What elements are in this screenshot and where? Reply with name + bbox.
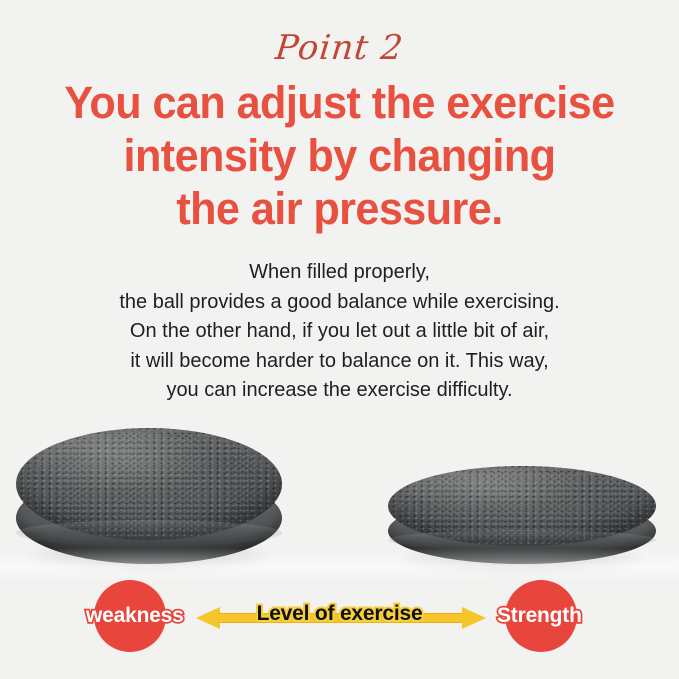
body-paragraph: When filled properly, the ball provides … (0, 258, 679, 406)
body-line-4: it will become harder to balance on it. … (0, 347, 679, 377)
scale-axis-label: Level of exercise (0, 600, 679, 628)
body-line-2: the ball provides a good balance while e… (0, 288, 679, 318)
point-eyebrow: Point 2 (0, 26, 679, 70)
headline-line-2: intensity by changing (14, 129, 666, 182)
cushion-rim-left (16, 520, 282, 546)
exercise-level-scale: weakness Strength Level of exercise (0, 578, 679, 656)
cushion-rim-right (388, 530, 656, 550)
page-title: You can adjust the exercise intensity by… (14, 76, 666, 235)
headline-line-3: the air pressure. (14, 182, 666, 235)
body-line-1: When filled properly, (0, 258, 679, 288)
cushion-highlight (409, 469, 586, 511)
headline-line-1: You can adjust the exercise (14, 76, 666, 129)
balance-cushion-inflated-image (16, 424, 282, 566)
infographic-page: Point 2 You can adjust the exercise inte… (0, 0, 679, 679)
body-line-3: On the other hand, if you let out a litt… (0, 317, 679, 347)
product-photo-area (0, 412, 679, 577)
balance-cushion-deflated-image (388, 464, 656, 568)
cushion-highlight (37, 432, 213, 490)
body-line-5: you can increase the exercise difficulty… (0, 376, 679, 406)
